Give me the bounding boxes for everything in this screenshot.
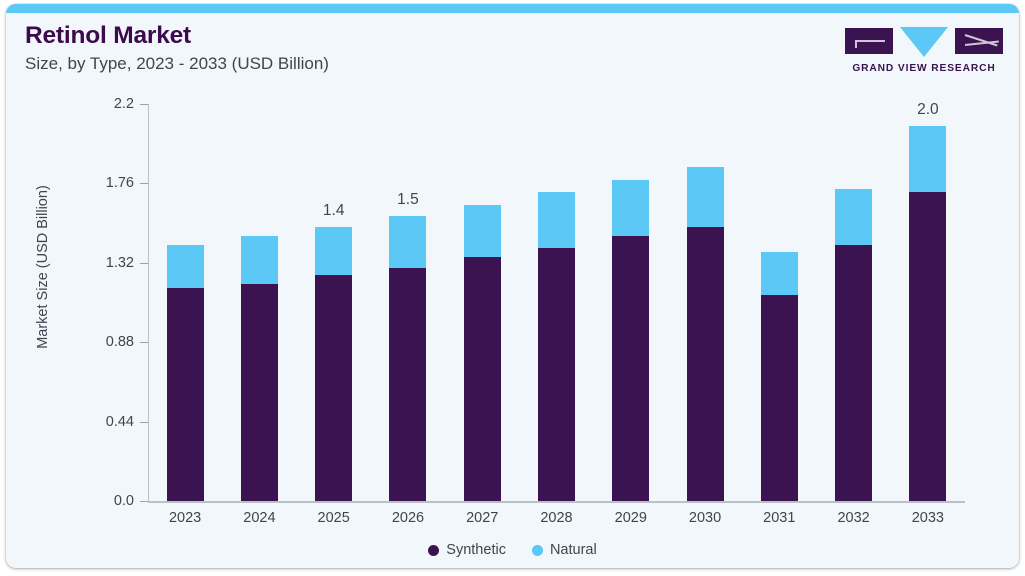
bar-segment-natural[interactable] [909, 126, 946, 193]
bar-segment-natural[interactable] [538, 192, 575, 248]
x-axis-line [148, 501, 965, 503]
bar-segment-natural[interactable] [167, 245, 204, 288]
legend-swatch-icon [428, 545, 439, 556]
chart-card: Retinol Market Size, by Type, 2023 - 203… [6, 4, 1019, 568]
bar-segment-natural[interactable] [389, 216, 426, 268]
y-axis-tick-label: 0.88 [74, 334, 134, 350]
bar-segment-synthetic[interactable] [612, 236, 649, 501]
bar-value-label: 2.0 [917, 101, 939, 119]
bar-segment-synthetic[interactable] [241, 284, 278, 501]
y-axis-title: Market Size (USD Billion) [35, 137, 51, 397]
bar-segment-synthetic[interactable] [835, 245, 872, 501]
bar-group[interactable] [464, 205, 501, 501]
x-axis-tick-label: 2031 [739, 510, 819, 526]
bar-segment-synthetic[interactable] [761, 295, 798, 501]
bar-series-container: 1.41.52.0 [148, 104, 965, 501]
y-axis-tick-label: 0.0 [74, 493, 134, 509]
bar-segment-natural[interactable] [315, 227, 352, 276]
bar-group[interactable]: 2.0 [909, 126, 946, 501]
x-axis-tick-label: 2024 [219, 510, 299, 526]
x-axis-tick-label: 2029 [591, 510, 671, 526]
bar-segment-natural[interactable] [464, 205, 501, 257]
plot-area: Market Size (USD Billion) 0.00.440.881.3… [6, 4, 1019, 568]
bar-segment-synthetic[interactable] [909, 192, 946, 501]
y-axis-labels: 0.00.440.881.321.762.2 [74, 4, 134, 568]
bar-group[interactable] [241, 236, 278, 501]
bar-group[interactable]: 1.4 [315, 227, 352, 501]
y-axis-tick [140, 104, 148, 105]
y-axis-tick [140, 263, 148, 264]
bar-segment-natural[interactable] [835, 189, 872, 245]
x-axis-tick-label: 2030 [665, 510, 745, 526]
bar-group[interactable] [687, 167, 724, 501]
y-axis-tick [140, 183, 148, 184]
legend-item-synthetic[interactable]: Synthetic [428, 542, 506, 558]
x-axis-tick-label: 2027 [442, 510, 522, 526]
bar-segment-synthetic[interactable] [315, 275, 352, 501]
y-axis-tick [140, 501, 148, 502]
bar-segment-synthetic[interactable] [464, 257, 501, 501]
bar-group[interactable] [835, 189, 872, 501]
y-axis-tick-label: 2.2 [74, 96, 134, 112]
legend-label: Synthetic [446, 542, 506, 558]
y-axis-tick-label: 0.44 [74, 414, 134, 430]
x-axis-tick-label: 2033 [888, 510, 968, 526]
bar-group[interactable]: 1.5 [389, 216, 426, 501]
x-axis-tick-label: 2028 [517, 510, 597, 526]
x-axis-tick-label: 2025 [294, 510, 374, 526]
bar-group[interactable] [761, 252, 798, 501]
chart-legend: SyntheticNatural [6, 542, 1019, 558]
bar-group[interactable] [612, 180, 649, 501]
bar-segment-natural[interactable] [687, 167, 724, 227]
legend-label: Natural [550, 542, 597, 558]
legend-swatch-icon [532, 545, 543, 556]
bar-segment-synthetic[interactable] [167, 288, 204, 501]
bar-group[interactable] [538, 192, 575, 501]
bar-segment-synthetic[interactable] [538, 248, 575, 501]
bar-segment-natural[interactable] [241, 236, 278, 285]
y-axis-tick-label: 1.76 [74, 175, 134, 191]
x-axis-tick-label: 2026 [368, 510, 448, 526]
bar-segment-synthetic[interactable] [389, 268, 426, 501]
y-axis-tick [140, 342, 148, 343]
y-axis-tick-label: 1.32 [74, 255, 134, 271]
y-axis-tick [140, 422, 148, 423]
x-axis-tick-label: 2023 [145, 510, 225, 526]
bar-segment-natural[interactable] [612, 180, 649, 236]
x-axis-tick-label: 2032 [814, 510, 894, 526]
bar-value-label: 1.5 [397, 191, 419, 209]
bar-value-label: 1.4 [323, 202, 345, 220]
bar-segment-synthetic[interactable] [687, 227, 724, 501]
legend-item-natural[interactable]: Natural [532, 542, 597, 558]
bar-group[interactable] [167, 245, 204, 501]
bar-segment-natural[interactable] [761, 252, 798, 295]
